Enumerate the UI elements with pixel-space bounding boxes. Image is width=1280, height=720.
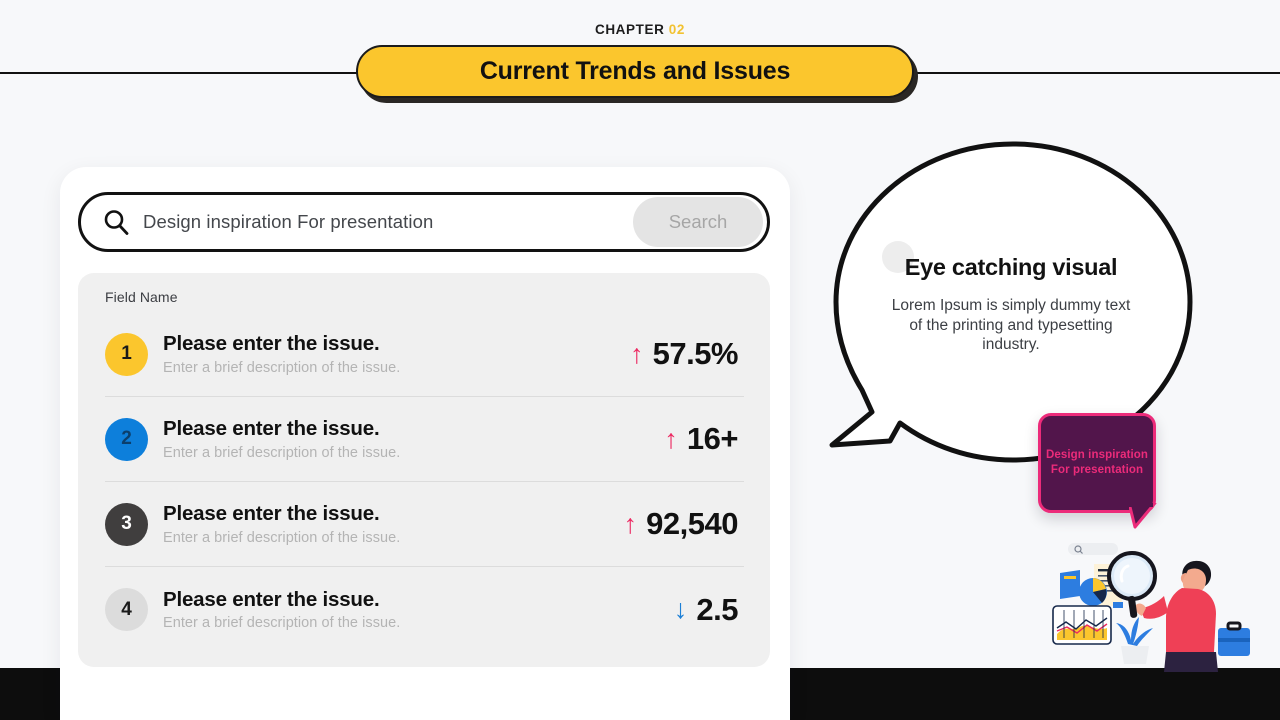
- trend-up-icon: ↑: [630, 341, 644, 368]
- tag-tail-icon: [1129, 503, 1161, 534]
- issues-list-panel: Field Name 1 Please enter the issue. Ent…: [78, 273, 770, 667]
- row-texts: Please enter the issue. Enter a brief de…: [163, 332, 630, 376]
- search-icon: [102, 208, 130, 236]
- row-subtitle: Enter a brief description of the issue.: [163, 360, 630, 376]
- row-title: Please enter the issue.: [163, 588, 674, 613]
- field-name-label: Field Name: [105, 289, 744, 305]
- row-number-badge: 1: [105, 333, 148, 376]
- trend-up-icon: ↑: [624, 511, 638, 538]
- design-inspiration-tag-label: Design inspiration For presentation: [1041, 448, 1153, 478]
- speech-bubble-content: Eye catching visual Lorem Ipsum is simpl…: [886, 254, 1136, 355]
- page-title: Current Trends and Issues: [480, 57, 790, 86]
- bubble-title: Eye catching visual: [886, 254, 1136, 281]
- row-stat: ↓ 2.5: [674, 592, 744, 628]
- row-stat: ↑ 57.5%: [630, 336, 744, 372]
- row-texts: Please enter the issue. Enter a brief de…: [163, 417, 664, 461]
- table-row[interactable]: 2 Please enter the issue. Enter a brief …: [105, 397, 744, 482]
- slide-title-pill: Current Trends and Issues: [356, 45, 914, 98]
- row-number-badge: 2: [105, 418, 148, 461]
- illustration-svg: [1036, 528, 1280, 672]
- research-illustration: [1036, 528, 1280, 677]
- trend-down-icon: ↓: [674, 596, 688, 623]
- row-title: Please enter the issue.: [163, 332, 630, 357]
- trend-up-icon: ↑: [664, 426, 678, 453]
- row-texts: Please enter the issue. Enter a brief de…: [163, 502, 624, 546]
- row-stat-value: 57.5%: [653, 336, 738, 372]
- row-subtitle: Enter a brief description of the issue.: [163, 530, 624, 546]
- chapter-word: CHAPTER: [595, 22, 664, 37]
- table-row[interactable]: 4 Please enter the issue. Enter a brief …: [105, 567, 744, 652]
- row-number-badge: 3: [105, 503, 148, 546]
- row-stat-value: 16+: [687, 421, 738, 457]
- slide-root: CHAPTER 02 Current Trends and Issues Eye…: [0, 0, 1280, 720]
- row-stat: ↑ 16+: [664, 421, 744, 457]
- row-subtitle: Enter a brief description of the issue.: [163, 445, 664, 461]
- search-input[interactable]: Design inspiration For presentation: [143, 211, 633, 233]
- row-title: Please enter the issue.: [163, 417, 664, 442]
- row-stat-value: 92,540: [646, 506, 738, 542]
- search-button[interactable]: Search: [633, 197, 763, 247]
- row-subtitle: Enter a brief description of the issue.: [163, 615, 674, 631]
- bubble-body: Lorem Ipsum is simply dummy text of the …: [886, 296, 1136, 355]
- row-number-badge: 4: [105, 588, 148, 631]
- table-row[interactable]: 3 Please enter the issue. Enter a brief …: [105, 482, 744, 567]
- table-row[interactable]: 1 Please enter the issue. Enter a brief …: [105, 312, 744, 397]
- design-inspiration-tag[interactable]: Design inspiration For presentation: [1038, 413, 1156, 513]
- chapter-label: CHAPTER 02: [0, 22, 1280, 37]
- row-stat: ↑ 92,540: [624, 506, 744, 542]
- search-bar[interactable]: Design inspiration For presentation Sear…: [78, 192, 770, 252]
- chapter-number: 02: [669, 22, 685, 37]
- row-texts: Please enter the issue. Enter a brief de…: [163, 588, 674, 632]
- row-stat-value: 2.5: [696, 592, 738, 628]
- row-title: Please enter the issue.: [163, 502, 624, 527]
